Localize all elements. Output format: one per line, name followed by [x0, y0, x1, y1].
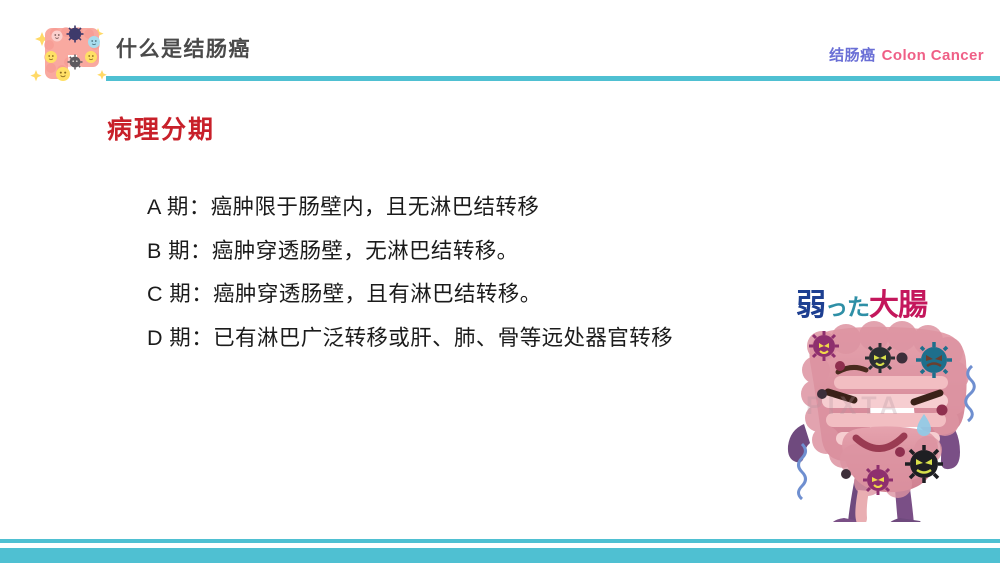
germ-magenta-lower-center: [863, 465, 893, 495]
germ-dark-center: [865, 343, 895, 373]
brand-label: 结肠癌Colon Cancer: [829, 44, 984, 65]
sad-colon-character-graphic: [782, 314, 1000, 522]
stage-item-b: B 期：癌肿穿透肠壁，无淋巴结转移。: [147, 230, 847, 274]
header-title: 什么是结肠癌: [116, 33, 251, 63]
germ-magenta-top-left: [809, 331, 839, 361]
colon-mascot-icon: [28, 12, 112, 84]
germ-dark-lower-right: [905, 445, 943, 483]
stage-item-c: C 期：癌肿穿透肠壁，且有淋巴结转移。: [147, 273, 847, 317]
brand-label-cn: 结肠癌: [829, 47, 876, 64]
pathological-stage-list: A 期：癌肿限于肠壁内，且无淋巴结转移 B 期：癌肿穿透肠壁，无淋巴结转移。 C…: [147, 186, 847, 360]
brand-label-en: Colon Cancer: [882, 47, 984, 64]
header-divider: [106, 76, 1000, 81]
slide-canvas: 什么是结肠癌 结肠癌Colon Cancer 病理分期 A 期：癌肿限于肠壁内，…: [0, 0, 1000, 563]
slide-header: 什么是结肠癌 结肠癌Colon Cancer: [0, 0, 1000, 92]
stage-item-d: D 期：已有淋巴广泛转移或肝、肺、骨等远处器官转移: [147, 317, 847, 361]
stage-item-a: A 期：癌肿限于肠壁内，且无淋巴结转移: [147, 186, 847, 230]
weakened-large-intestine-illustration: 弱った大腸: [782, 272, 1000, 522]
footer-thin-line: [0, 539, 1000, 543]
section-title: 病理分期: [107, 110, 215, 146]
germ-teal-right: [916, 342, 952, 378]
footer-bar: [0, 548, 1000, 563]
